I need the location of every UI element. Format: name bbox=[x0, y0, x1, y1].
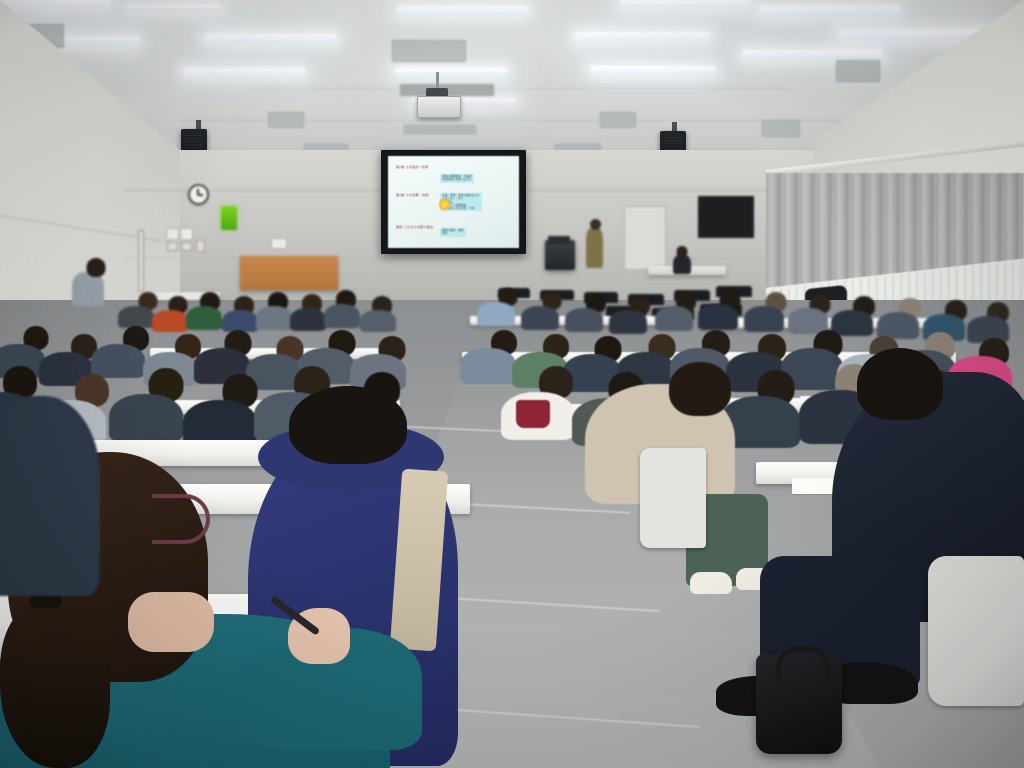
wall-switch[interactable] bbox=[196, 240, 205, 252]
wall-clock bbox=[188, 184, 209, 205]
ceiling-light bbox=[760, 6, 900, 16]
attendee-body bbox=[521, 306, 559, 330]
attendee-body bbox=[246, 354, 302, 390]
projection-screen: 第2章 その役割 / 作用 地域の課題解決、行政等 行政参加の支援へ広がる 第3… bbox=[381, 150, 526, 254]
door-frame-right[interactable] bbox=[624, 206, 666, 270]
lecture-hall-photo: 第2章 その役割 / 作用 地域の課題解決、行政等 行政参加の支援へ広がる 第3… bbox=[0, 0, 1024, 768]
ceiling-vent bbox=[392, 40, 466, 62]
ceiling-light bbox=[590, 66, 715, 74]
ceiling-vent bbox=[600, 112, 636, 128]
woman-with-ponytail-ponytail bbox=[0, 600, 110, 768]
moderator-body bbox=[673, 254, 691, 274]
slide-heading-1: 第2章 その役割 / 作用 bbox=[396, 165, 429, 169]
attendee-body bbox=[877, 312, 919, 339]
wall-switch[interactable] bbox=[181, 242, 192, 251]
wall-control-panel[interactable] bbox=[166, 228, 179, 240]
attendee-body bbox=[194, 348, 250, 384]
sun-burst-icon bbox=[439, 199, 450, 210]
wall-panel-right bbox=[698, 196, 754, 238]
attendee-body bbox=[91, 344, 145, 378]
presenter-body bbox=[586, 228, 603, 268]
staff-left-head bbox=[87, 258, 106, 277]
wall-control-panel[interactable] bbox=[180, 228, 193, 240]
person-cream-knit-sweater-head bbox=[669, 362, 731, 416]
ceiling-light bbox=[742, 50, 882, 59]
emergency-exit-sign bbox=[221, 206, 237, 230]
door-frame-left bbox=[138, 230, 144, 292]
ceiling-vent bbox=[762, 120, 800, 137]
ceiling-projector bbox=[417, 96, 461, 118]
wooden-wall-panel bbox=[240, 256, 338, 290]
attendee-body bbox=[565, 308, 603, 332]
ceiling-light bbox=[838, 30, 988, 40]
attendee-body bbox=[655, 306, 693, 331]
ceiling-light bbox=[0, 0, 110, 8]
man-in-dark-suit-head bbox=[857, 348, 943, 420]
ceiling-light bbox=[126, 4, 221, 11]
attendee-body bbox=[350, 354, 406, 390]
attendee-body bbox=[477, 302, 515, 326]
attendee-body bbox=[512, 352, 568, 388]
staff-left-body bbox=[72, 272, 104, 306]
lectern bbox=[545, 240, 575, 270]
ceiling-vent bbox=[836, 60, 880, 82]
ceiling-light bbox=[620, 0, 750, 8]
attendee-body bbox=[698, 304, 738, 330]
woman-with-ponytail-neck bbox=[128, 592, 214, 652]
slide-body-1: 地域の課題解決、行政等 行政参加の支援へ広がる bbox=[440, 174, 474, 183]
attendee-body bbox=[290, 308, 326, 331]
hair-tie bbox=[30, 594, 62, 608]
slide-heading-2: 第3章 その効果・効用 bbox=[396, 193, 429, 197]
attendee-body bbox=[298, 348, 354, 384]
attendee-body bbox=[39, 352, 93, 386]
cream-person-shoe bbox=[690, 572, 732, 594]
ceiling-vent bbox=[404, 125, 476, 134]
chair[interactable] bbox=[640, 448, 706, 548]
attendee-body bbox=[460, 348, 516, 384]
wall-outlet[interactable] bbox=[271, 238, 287, 249]
attendee-body bbox=[118, 306, 154, 328]
ceiling-light bbox=[395, 68, 507, 75]
attendee-body bbox=[256, 306, 292, 330]
bag-handle bbox=[776, 646, 830, 681]
attendee-body bbox=[186, 306, 222, 330]
moderator-head bbox=[677, 246, 688, 257]
attendee-body bbox=[609, 310, 647, 334]
attendee-body bbox=[726, 352, 786, 392]
left-edge-attendee bbox=[0, 396, 100, 596]
laptop-on-lectern bbox=[548, 236, 570, 244]
slide-body-3: 関係の強化・連携 交流 bbox=[440, 228, 466, 237]
attendee-body bbox=[360, 310, 396, 332]
wall-switch[interactable] bbox=[167, 242, 178, 251]
ceiling-light bbox=[575, 32, 710, 41]
presenter-head bbox=[590, 219, 601, 230]
attendee-body bbox=[222, 310, 258, 332]
chair[interactable] bbox=[928, 556, 1024, 706]
ceiling-light bbox=[183, 68, 305, 76]
attendee-body bbox=[781, 348, 843, 390]
glasses-temple bbox=[152, 494, 210, 544]
ceiling-light bbox=[205, 34, 337, 43]
ceiling-light bbox=[398, 6, 528, 15]
attendee-body bbox=[324, 304, 360, 328]
attendee-body bbox=[143, 352, 197, 386]
person-navy-turtleneck-head bbox=[289, 386, 407, 464]
ceiling-vent bbox=[268, 112, 304, 128]
attendee-body bbox=[563, 354, 621, 392]
attendee-body bbox=[744, 306, 784, 332]
slide-heading-3: 補足 これからの取り組み bbox=[396, 225, 433, 229]
slide-surface: 第2章 その役割 / 作用 地域の課題解決、行政等 行政参加の支援へ広がる 第3… bbox=[388, 156, 519, 248]
attendee-body bbox=[152, 310, 188, 332]
